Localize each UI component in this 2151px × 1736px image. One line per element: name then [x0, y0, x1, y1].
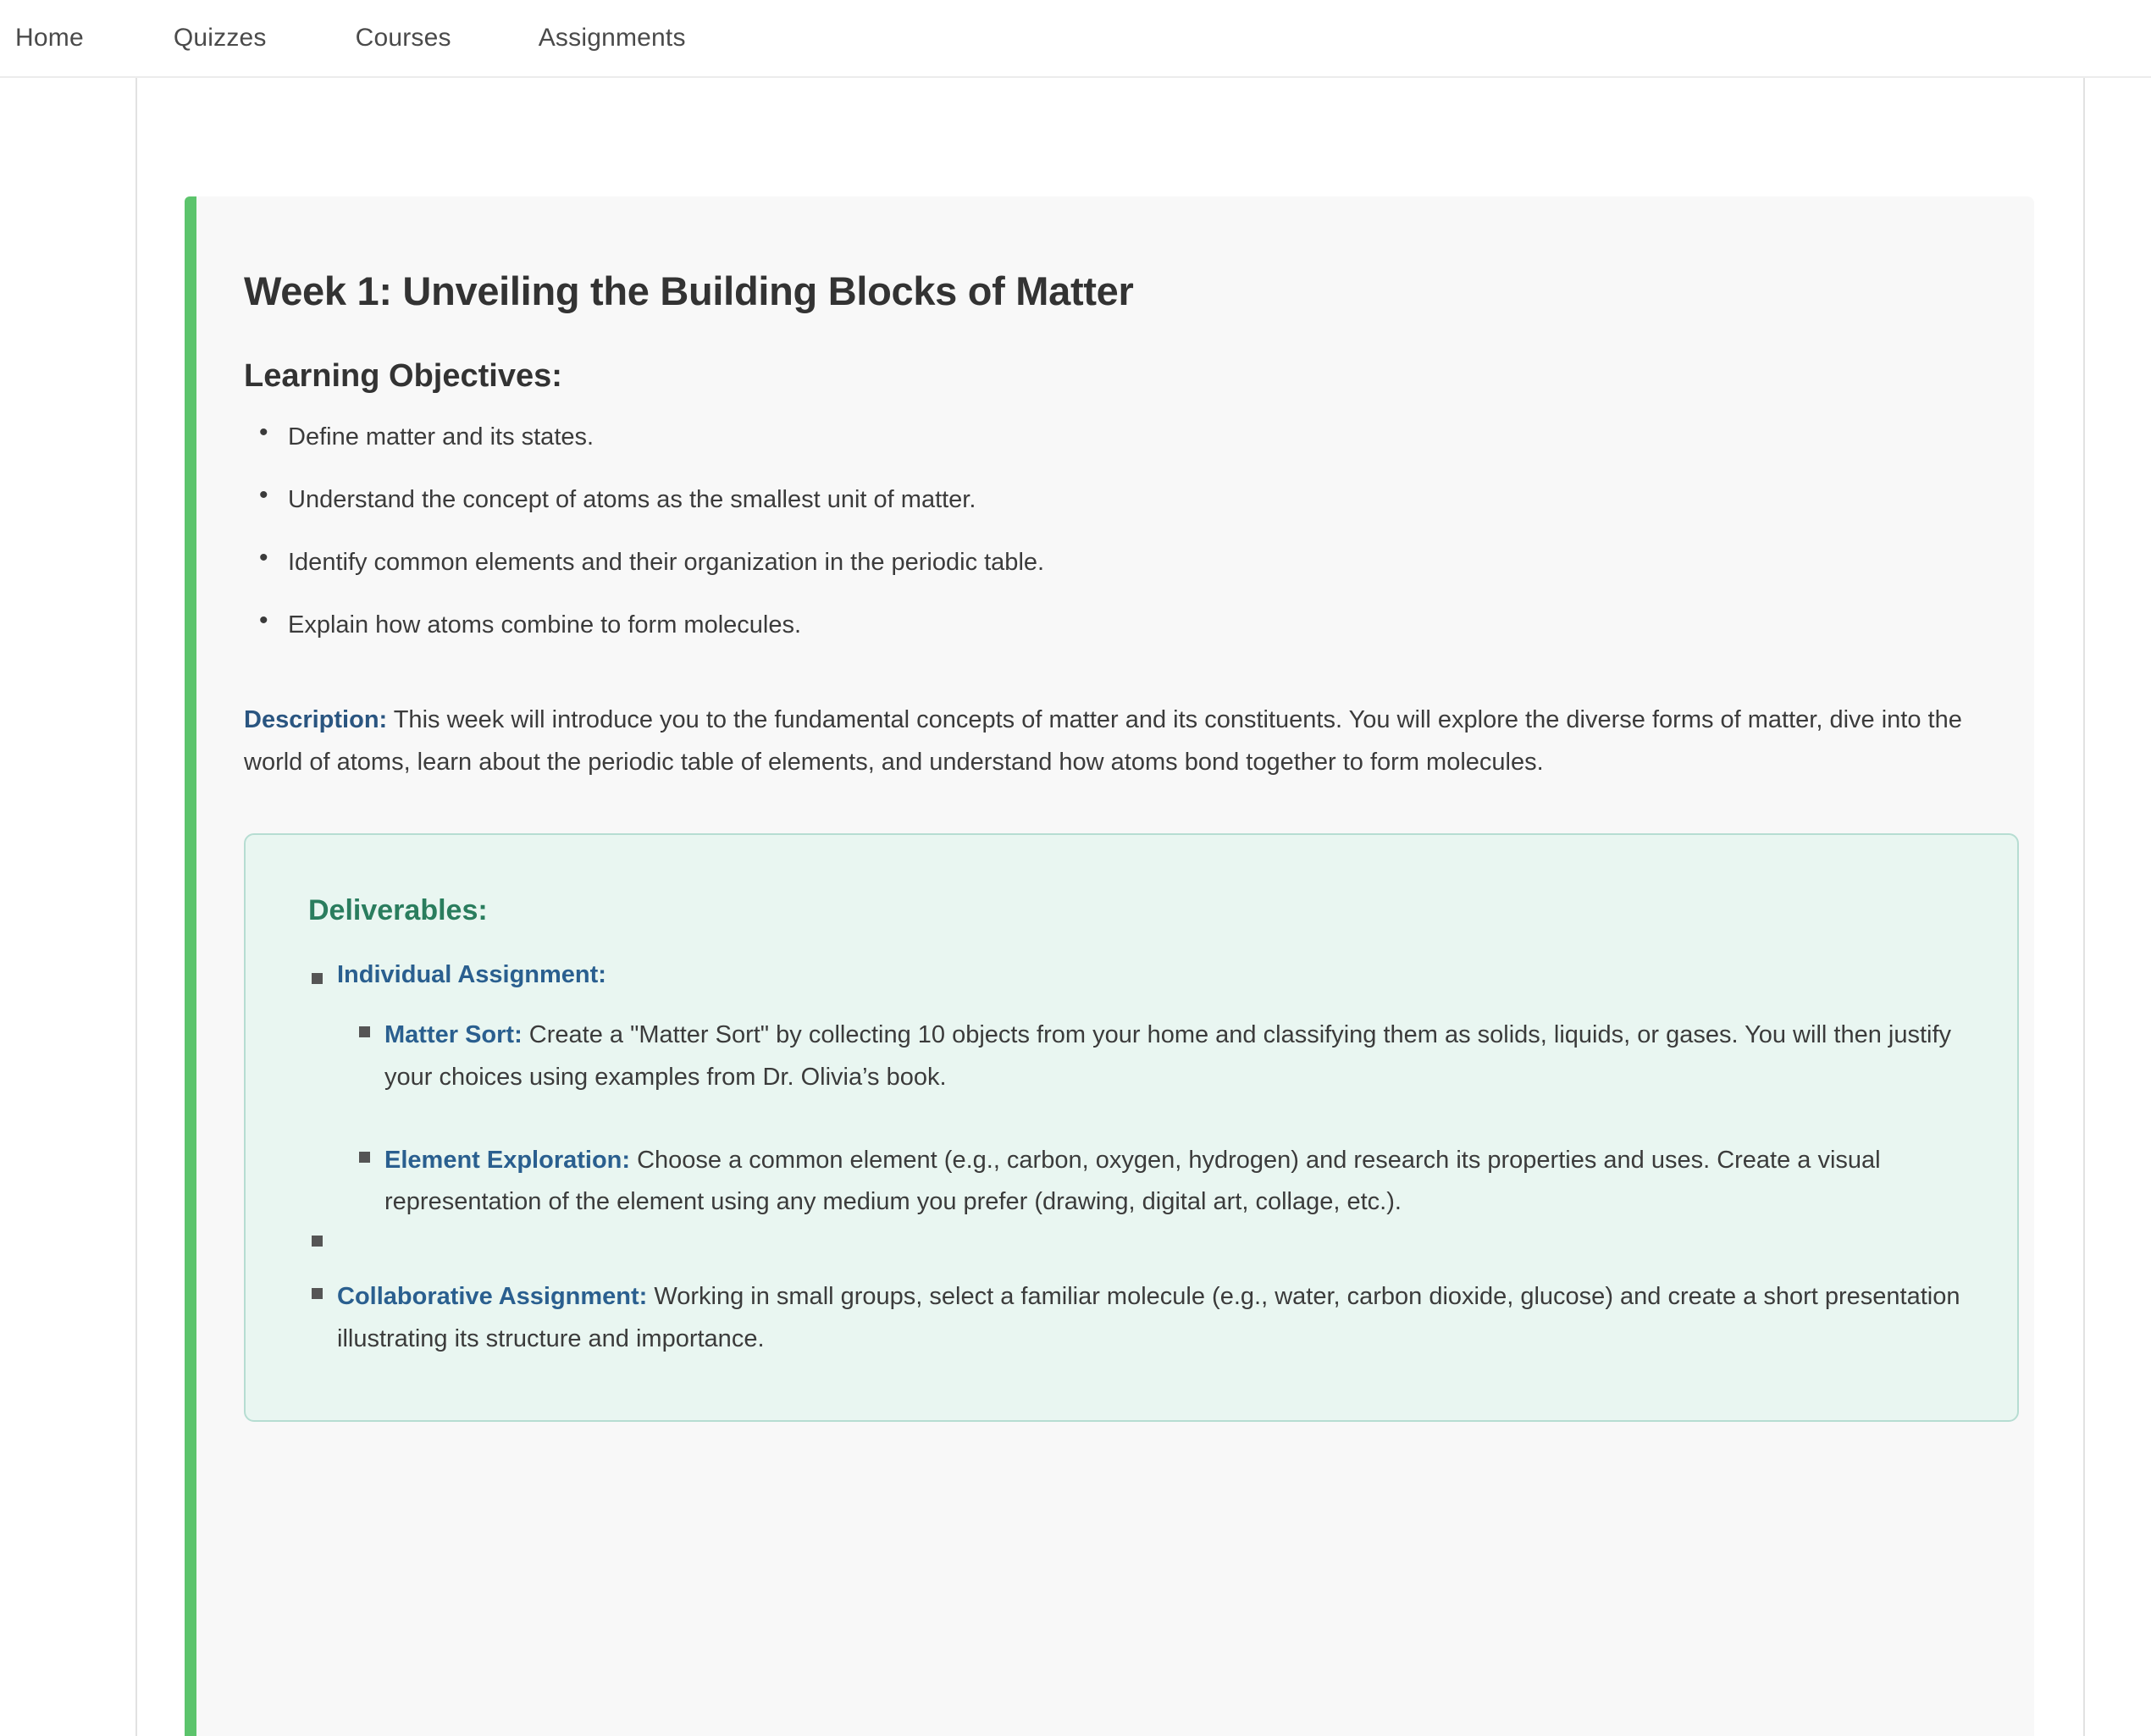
list-item: Element Exploration: Choose a common ele…: [384, 1140, 1973, 1225]
list-item: Understand the concept of atoms as the s…: [288, 488, 1982, 550]
nav-item-quizzes[interactable]: Quizzes: [174, 24, 267, 53]
list-item: Matter Sort: Create a "Matter Sort" by c…: [384, 1015, 1973, 1140]
individual-assignment-label: Individual Assignment:: [337, 961, 606, 988]
matter-sort-text: Create a "Matter Sort" by collecting 10 …: [384, 1021, 1951, 1091]
description-body: This week will introduce you to the fund…: [244, 706, 1962, 776]
list-spacer: [337, 1224, 1973, 1276]
list-item-individual-assignment: Individual Assignment: Matter Sort: Crea…: [337, 961, 1973, 1225]
list-item: Define matter and its states.: [288, 425, 1982, 488]
deliverables-panel: Deliverables: Individual Assignment: Mat…: [244, 833, 2019, 1422]
nav-item-assignments[interactable]: Assignments: [539, 24, 686, 53]
list-item: Identify common elements and their organ…: [288, 550, 1982, 613]
collaborative-assignment-label: Collaborative Assignment:: [337, 1283, 647, 1310]
nav-item-courses[interactable]: Courses: [356, 24, 451, 53]
learning-objectives-list: Define matter and its states. Understand…: [244, 395, 1982, 676]
deliverables-heading: Deliverables:: [290, 894, 1973, 927]
description-label: Description:: [244, 706, 387, 733]
individual-assignment-sublist: Matter Sort: Create a "Matter Sort" by c…: [337, 989, 1973, 1225]
week-module-card: Week 1: Unveiling the Building Blocks of…: [185, 196, 2034, 1736]
right-content-divider: [2083, 78, 2085, 1736]
matter-sort-label: Matter Sort:: [384, 1021, 523, 1048]
top-navigation-bar: Home Quizzes Courses Assignments: [0, 0, 2151, 78]
element-exploration-label: Element Exploration:: [384, 1147, 630, 1174]
week-description: Description: This week will introduce yo…: [244, 676, 1982, 784]
learning-objectives-heading: Learning Objectives:: [244, 314, 1982, 395]
list-item: Explain how atoms combine to form molecu…: [288, 613, 1982, 676]
week-heading: Week 1: Unveiling the Building Blocks of…: [244, 247, 1982, 314]
page-content-area: Chemistry Unit: Exploring the Building B…: [137, 78, 2083, 1736]
list-item-collaborative-assignment: Collaborative Assignment: Working in sma…: [337, 1276, 1973, 1361]
deliverables-list: Individual Assignment: Matter Sort: Crea…: [290, 927, 1973, 1361]
nav-item-home[interactable]: Home: [15, 24, 84, 53]
